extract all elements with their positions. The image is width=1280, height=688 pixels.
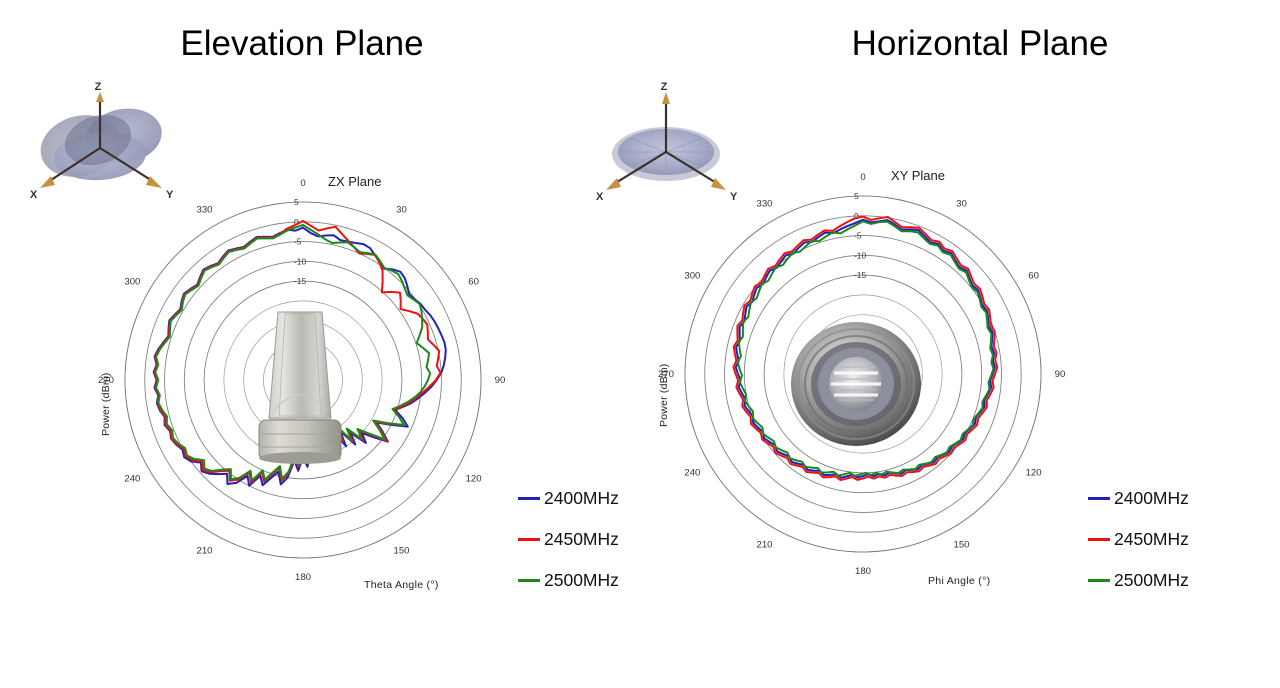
polar-chart-xy: XY Plane 50-5-10-15030609012015018021024… <box>648 162 1078 592</box>
angle-tick-240: 240 <box>684 468 700 479</box>
legend-item[interactable]: 2450MHz <box>1088 519 1189 560</box>
legend-item[interactable]: 2500MHz <box>1088 560 1189 601</box>
legend-swatch-2400 <box>518 497 540 501</box>
angle-tick-30: 30 <box>396 204 407 215</box>
axis-label-power-zx: Power (dBm) <box>100 373 112 436</box>
radial-tick--10: -10 <box>294 256 306 266</box>
radial-tick--15: -15 <box>294 276 306 286</box>
angle-tick-300: 300 <box>124 277 140 288</box>
axis-z-label: Z <box>95 81 102 93</box>
trace-2400MHz <box>154 228 446 486</box>
axis-x-label: X <box>30 189 38 201</box>
angle-tick-210: 210 <box>196 546 212 557</box>
radial-tick--15: -15 <box>854 270 866 280</box>
legend-horizontal: 2400MHz 2450MHz 2500MHz <box>1088 478 1189 601</box>
page-title-elevation: Elevation Plane <box>0 24 622 64</box>
angle-tick-90: 90 <box>495 375 506 386</box>
polar-grid-xy: 50-5-10-15030609012015018021024027030033… <box>648 162 1078 592</box>
angle-tick-180: 180 <box>855 566 871 577</box>
polar-grid-zx: 50-5-10-15030609012015018021024027030033… <box>88 168 518 598</box>
angle-tick-120: 120 <box>466 474 482 485</box>
axis-label-power-xy: Power (dBm) <box>658 364 670 427</box>
legend-swatch-2450 <box>1088 538 1110 542</box>
polar-chart-zx: ZX Plane 50-5-10-15030609012015018021024… <box>88 168 518 598</box>
legend-label-2400: 2400MHz <box>1114 488 1189 509</box>
angle-tick-0: 0 <box>860 172 865 183</box>
axis-z-label: Z <box>661 81 668 93</box>
radial-tick-5: 5 <box>854 191 859 201</box>
angle-tick-330: 330 <box>756 198 772 209</box>
radial-tick--5: -5 <box>854 231 862 241</box>
angle-tick-240: 240 <box>124 474 140 485</box>
angle-tick-60: 60 <box>468 277 479 288</box>
angle-tick-0: 0 <box>300 178 305 189</box>
panel-horizontal: Horizontal Plane Z <box>600 0 1240 688</box>
legend-label-2500: 2500MHz <box>1114 570 1189 591</box>
angle-tick-60: 60 <box>1028 271 1039 282</box>
angle-tick-150: 150 <box>953 540 969 551</box>
angle-tick-30: 30 <box>956 198 967 209</box>
axis-label-phi: Phi Angle (°) <box>928 575 990 587</box>
angle-tick-120: 120 <box>1026 468 1042 479</box>
legend-label-2450: 2450MHz <box>1114 529 1189 550</box>
radial-tick--10: -10 <box>854 250 866 260</box>
legend-swatch-2400 <box>1088 497 1110 501</box>
legend-swatch-2500 <box>1088 579 1110 583</box>
angle-tick-300: 300 <box>684 271 700 282</box>
angle-tick-180: 180 <box>295 572 311 583</box>
radial-tick--5: -5 <box>294 237 302 247</box>
panel-elevation: Elevation Plane <box>0 0 640 688</box>
axis-x-label: X <box>596 191 604 203</box>
radial-tick-5: 5 <box>294 197 299 207</box>
angle-tick-210: 210 <box>756 540 772 551</box>
legend-swatch-2500 <box>518 579 540 583</box>
page-title-horizontal: Horizontal Plane <box>660 24 1280 64</box>
axis-label-theta: Theta Angle (°) <box>364 579 439 591</box>
angle-tick-150: 150 <box>393 546 409 557</box>
legend-swatch-2450 <box>518 538 540 542</box>
legend-item[interactable]: 2400MHz <box>1088 478 1189 519</box>
angle-tick-330: 330 <box>196 204 212 215</box>
angle-tick-90: 90 <box>1055 369 1066 380</box>
